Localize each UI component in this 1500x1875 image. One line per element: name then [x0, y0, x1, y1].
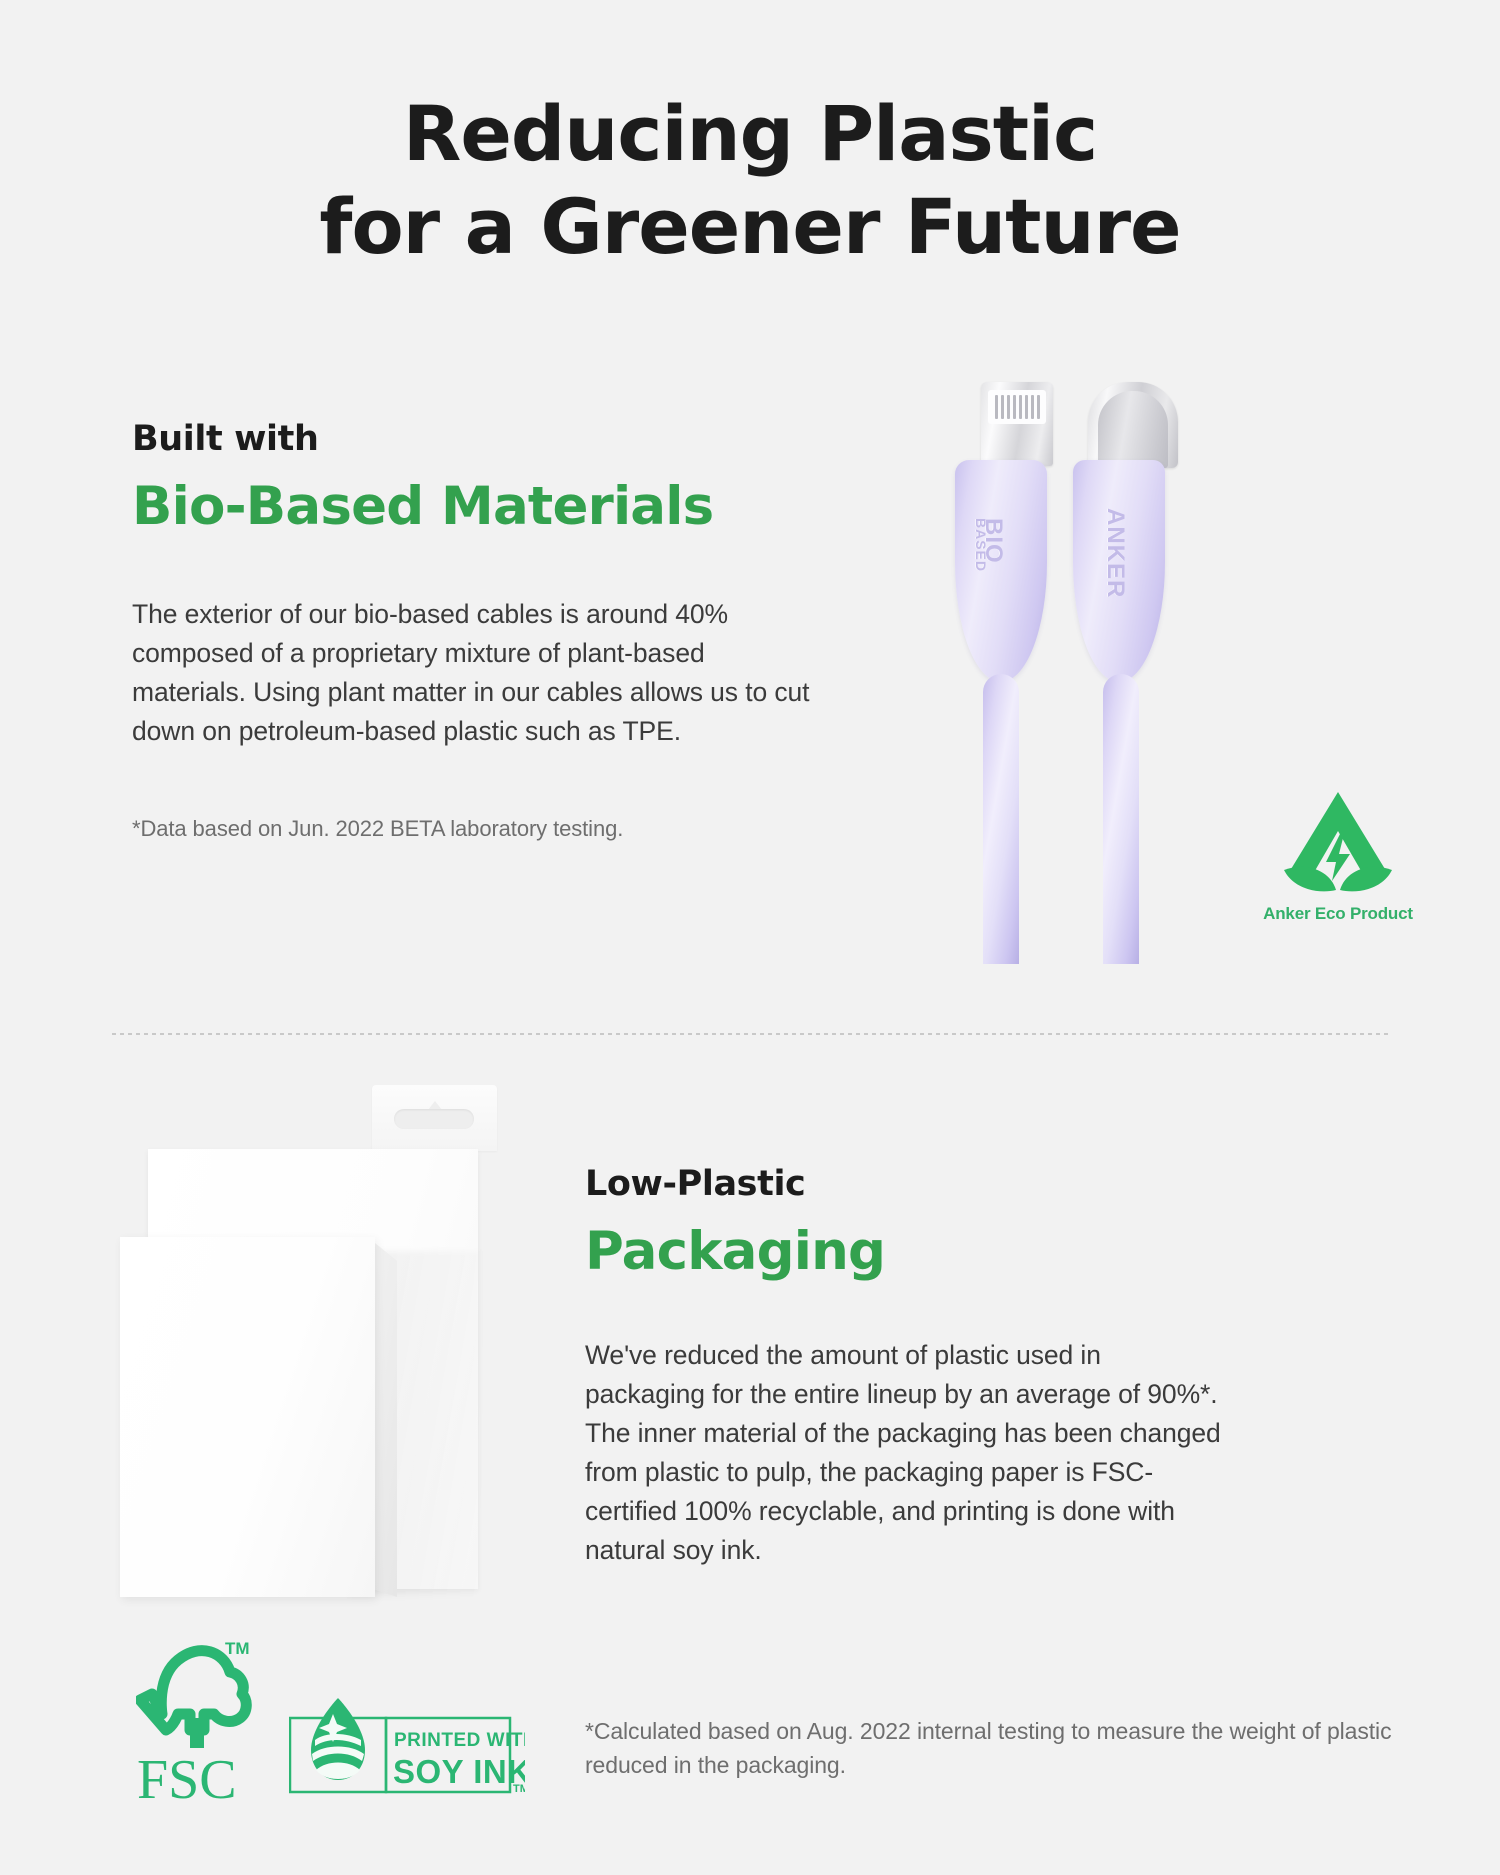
- soy-ink-certification-logo: PRINTED WITH SOY INK TM: [289, 1696, 525, 1800]
- infographic-page: Reducing Plastic for a Greener Future Bu…: [0, 0, 1500, 1875]
- usbc-connector-icon: [1088, 382, 1178, 468]
- svg-text:SOY INK: SOY INK: [393, 1753, 525, 1790]
- soy-droplet-glyph: [311, 1698, 365, 1780]
- lightning-pins: [988, 390, 1046, 424]
- lightning-cable-cord: [983, 674, 1019, 964]
- page-title: Reducing Plastic for a Greener Future: [0, 88, 1500, 273]
- packaging-heading: Packaging: [585, 1220, 1225, 1285]
- packaging-body: We've reduced the amount of plastic used…: [585, 1336, 1225, 1570]
- packaging-image: [120, 1085, 540, 1605]
- svg-text:PRINTED WITH: PRINTED WITH: [394, 1730, 525, 1751]
- bio-based-body: The exterior of our bio-based cables is …: [132, 595, 812, 751]
- cable-label-based: BASED: [973, 518, 989, 572]
- usbc-cable-housing: ANKER: [1073, 460, 1165, 682]
- usbc-cable: ANKER: [1073, 382, 1165, 962]
- svg-text:FSC: FSC: [137, 1749, 237, 1811]
- lightning-cable-housing: BIO BASED: [955, 460, 1047, 682]
- fsc-tree-checkmark-icon: TM FSC: [136, 1634, 264, 1814]
- anker-eco-leaf-bolt-icon: [1276, 786, 1400, 898]
- lightning-connector-icon: [981, 382, 1053, 466]
- section-divider: [112, 1033, 1390, 1035]
- headline-line-1: Reducing Plastic: [403, 89, 1097, 178]
- svg-text:TM: TM: [225, 1639, 250, 1658]
- anker-eco-product-badge: Anker Eco Product: [1248, 786, 1428, 924]
- packaging-eyebrow: Low-Plastic: [585, 1165, 1225, 1204]
- bio-based-footnote: *Data based on Jun. 2022 BETA laboratory…: [132, 813, 812, 845]
- hang-tab-notch: [424, 1101, 446, 1115]
- headline-line-2: for a Greener Future: [0, 181, 1500, 274]
- packaging-front-box-side: [375, 1243, 397, 1597]
- packaging-footnote: *Calculated based on Aug. 2022 internal …: [585, 1715, 1465, 1782]
- lightning-cable: BIO BASED: [955, 382, 1047, 962]
- section-packaging-text: Low-Plastic Packaging We've reduced the …: [585, 1165, 1225, 1570]
- fsc-certification-logo: TM FSC: [136, 1634, 264, 1814]
- anker-eco-product-caption: Anker Eco Product: [1248, 904, 1428, 924]
- bio-based-heading: Bio-Based Materials: [132, 475, 812, 540]
- section-bio-based-text: Built with Bio-Based Materials The exter…: [132, 420, 812, 845]
- printed-with-soy-ink-icon: PRINTED WITH SOY INK TM: [289, 1696, 525, 1800]
- svg-text:TM: TM: [513, 1783, 525, 1795]
- bio-based-cable-image: BIO BASED ANKER: [955, 382, 1215, 962]
- bio-based-eyebrow: Built with: [132, 420, 812, 459]
- packaging-hang-tab: [372, 1085, 497, 1151]
- packaging-front-box: [120, 1237, 375, 1597]
- cable-label-anker: ANKER: [1101, 508, 1129, 598]
- usbc-cable-cord: [1103, 674, 1139, 964]
